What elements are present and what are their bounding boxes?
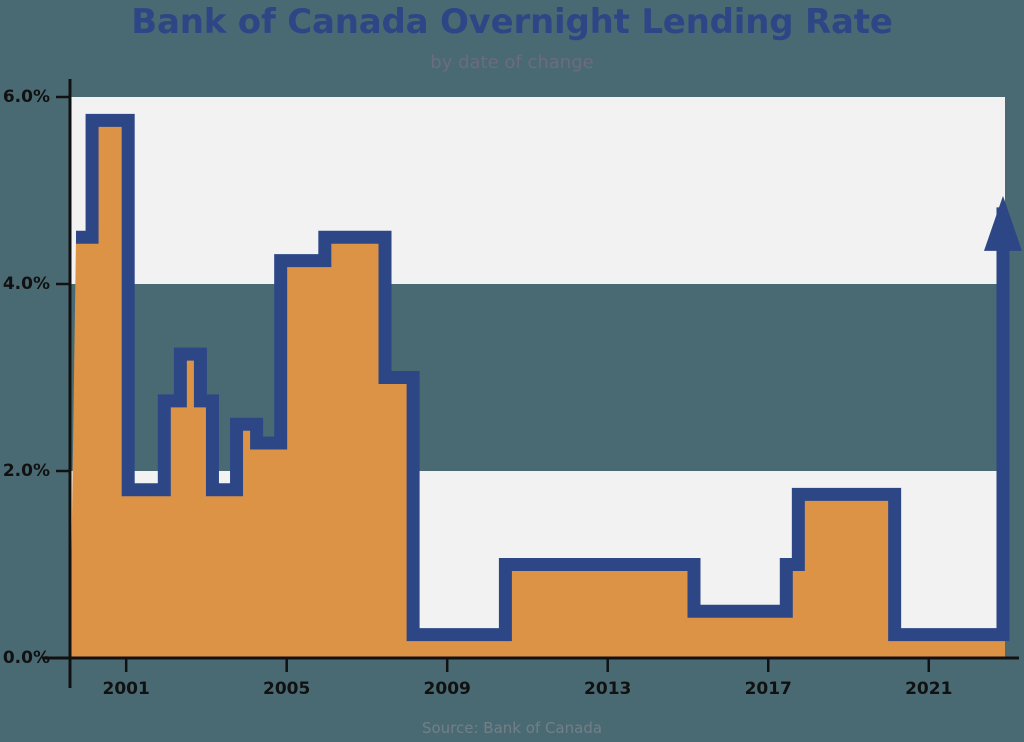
background-band-2 [70,97,1005,284]
x-tick-label: 2001 [103,679,150,699]
chart-canvas: 0.0%2.0%4.0%6.0% 20012005200920132017202… [0,0,1024,742]
x-tick-label: 2013 [584,679,631,699]
y-tick-label: 6.0% [3,87,50,107]
x-tick-label: 2017 [745,679,792,699]
chart-source-note: Source: Bank of Canada [0,719,1024,737]
y-tick-label: 0.0% [3,648,50,668]
chart-page: Bank of Canada Overnight Lending Rate by… [0,0,1024,742]
x-tick-label: 2005 [263,679,310,699]
y-axis-ticks: 0.0%2.0%4.0%6.0% [3,87,70,668]
y-tick-label: 2.0% [3,461,50,481]
x-axis-ticks: 200120052009201320172021 [103,658,953,699]
y-tick-label: 4.0% [3,274,50,294]
x-tick-label: 2021 [905,679,952,699]
x-tick-label: 2009 [424,679,471,699]
